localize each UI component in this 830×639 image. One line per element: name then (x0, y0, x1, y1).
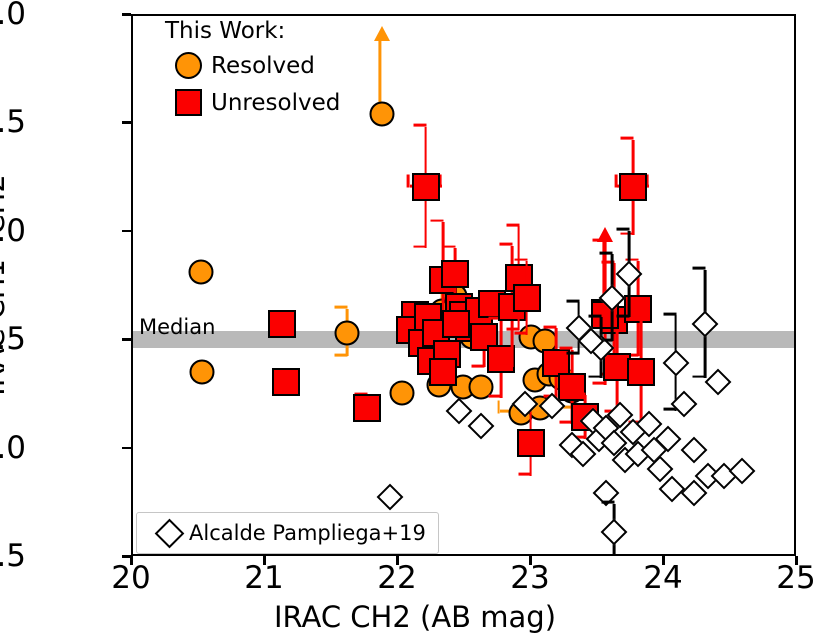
y-error-cap (602, 501, 615, 504)
y-error-cap (506, 328, 519, 331)
y-error-cap (514, 332, 527, 335)
x-error-cap (407, 175, 410, 188)
y-error-cap (566, 351, 579, 354)
x-axis-label: IRAC CH2 (AB mag) (274, 600, 556, 634)
data-point-square[interactable] (353, 394, 381, 422)
x-tick-label: 21 (244, 560, 283, 596)
x-tick-label: 25 (776, 560, 815, 596)
y-axis-label: IRAC CH1−CH2 (0, 174, 11, 396)
data-point-square[interactable] (558, 373, 586, 401)
y-error-cap (617, 228, 630, 231)
y-error-cap (543, 325, 556, 328)
y-error-cap (500, 243, 513, 246)
y-error-cap (506, 223, 519, 226)
y-tick (122, 13, 131, 16)
circle-marker-icon (165, 52, 211, 79)
y-error-cap (518, 473, 531, 476)
y-error-cap (335, 354, 348, 357)
legend-title: This Work: (165, 18, 340, 44)
y-tick-label: 0.5 (0, 321, 26, 357)
y-error-cap (489, 395, 502, 398)
y-tick-label: 0.0 (0, 430, 26, 466)
y-error-cap (573, 393, 586, 396)
y-tick-label: −0.5 (0, 538, 26, 574)
y-error-cap (430, 219, 443, 222)
y-tick (122, 121, 131, 124)
limit-arrow-head (374, 26, 390, 41)
y-error-cap (413, 245, 426, 248)
legend-item-unresolved: Unresolved (165, 84, 340, 121)
y-error-cap (621, 137, 634, 140)
x-tick-label: 22 (377, 560, 416, 596)
y-tick (122, 338, 131, 341)
data-point-square[interactable] (441, 260, 469, 288)
y-error-cap (629, 317, 642, 320)
data-point-circle[interactable] (335, 320, 360, 345)
data-point-diamond[interactable] (445, 397, 472, 424)
y-error-cap (599, 252, 612, 255)
data-point-diamond[interactable] (681, 436, 708, 463)
y-error-cap (692, 375, 705, 378)
data-point-square[interactable] (412, 173, 440, 201)
y-error-cap (335, 306, 348, 309)
y-error-cap (589, 315, 602, 318)
y-error-cap (692, 267, 705, 270)
legend-label-resolved: Resolved (211, 53, 315, 79)
data-point-circle[interactable] (188, 259, 213, 284)
y-error-cap (589, 375, 602, 378)
data-point-square[interactable] (513, 284, 541, 312)
x-tick-label: 23 (510, 560, 549, 596)
data-point-circle[interactable] (369, 101, 394, 126)
limit-arrow-head (597, 227, 613, 242)
x-tick-label: 20 (111, 560, 150, 596)
y-tick (122, 447, 131, 450)
y-error-cap (617, 315, 630, 318)
y-error-cap (593, 382, 606, 385)
x-error-cap (614, 175, 617, 188)
data-point-square[interactable] (517, 429, 545, 457)
x-tick-label: 24 (643, 560, 682, 596)
y-error-cap (559, 347, 572, 350)
y-tick (122, 230, 131, 233)
data-point-circle[interactable] (389, 381, 414, 406)
diamond-marker-icon (149, 523, 189, 544)
y-tick-label: 2.0 (0, 0, 26, 32)
y-tick-label: 1.5 (0, 104, 26, 140)
figure-canvas: IRAC CH1−CH2 IRAC CH2 (AB mag) Median −0… (0, 0, 830, 639)
y-tick-label: 1.0 (0, 213, 26, 249)
y-error-cap (442, 245, 455, 248)
data-point-square[interactable] (442, 310, 470, 338)
data-point-square[interactable] (619, 173, 647, 201)
legend-item-resolved: Resolved (165, 47, 340, 84)
data-point-square[interactable] (272, 368, 300, 396)
data-point-diamond[interactable] (376, 484, 403, 511)
x-error-cap (497, 400, 500, 413)
data-point-diamond[interactable] (662, 349, 689, 376)
data-point-square[interactable] (429, 358, 457, 386)
y-error-cap (566, 299, 579, 302)
data-point-diamond[interactable] (705, 369, 732, 396)
legend-label-unresolved: Unresolved (211, 90, 340, 116)
median-label: Median (139, 315, 215, 339)
data-point-diamond[interactable] (601, 519, 628, 546)
legend-literature: Alcalde Pampliega+19 (136, 512, 439, 554)
y-error-cap (472, 364, 485, 367)
y-error-cap (663, 312, 676, 315)
legend-this-work: This Work: Resolved Unresolved (165, 18, 340, 121)
data-point-square[interactable] (268, 310, 296, 338)
data-point-circle[interactable] (190, 359, 215, 384)
legend-label-literature: Alcalde Pampliega+19 (189, 521, 426, 545)
data-point-square[interactable] (627, 358, 655, 386)
square-marker-icon (165, 89, 211, 116)
y-error-cap (413, 124, 426, 127)
data-point-diamond[interactable] (468, 412, 495, 439)
y-error-cap (514, 258, 527, 261)
y-error-cap (500, 364, 513, 367)
